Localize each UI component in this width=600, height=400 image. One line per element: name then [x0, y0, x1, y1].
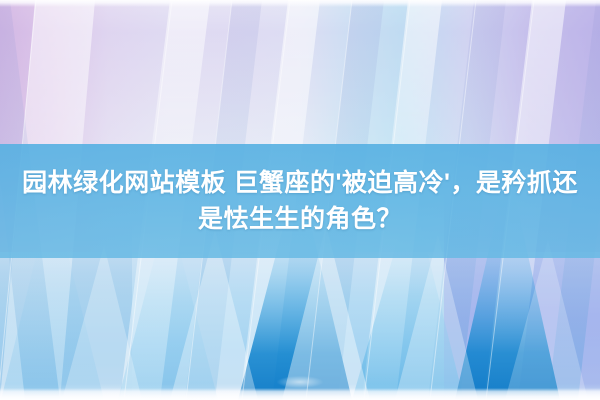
- banner-image: 园林绿化网站模板 巨蟹座的'被迫高冷'，是矜抓还是怯生生的角色？: [0, 0, 600, 400]
- bottom-fade-strip: [0, 388, 600, 400]
- headline-text: 园林绿化网站模板 巨蟹座的'被迫高冷'，是矜抓还是怯生生的角色？: [20, 165, 580, 237]
- headline-band: 园林绿化网站模板 巨蟹座的'被迫高冷'，是矜抓还是怯生生的角色？: [0, 144, 600, 258]
- top-fade-strip: [0, 0, 600, 7]
